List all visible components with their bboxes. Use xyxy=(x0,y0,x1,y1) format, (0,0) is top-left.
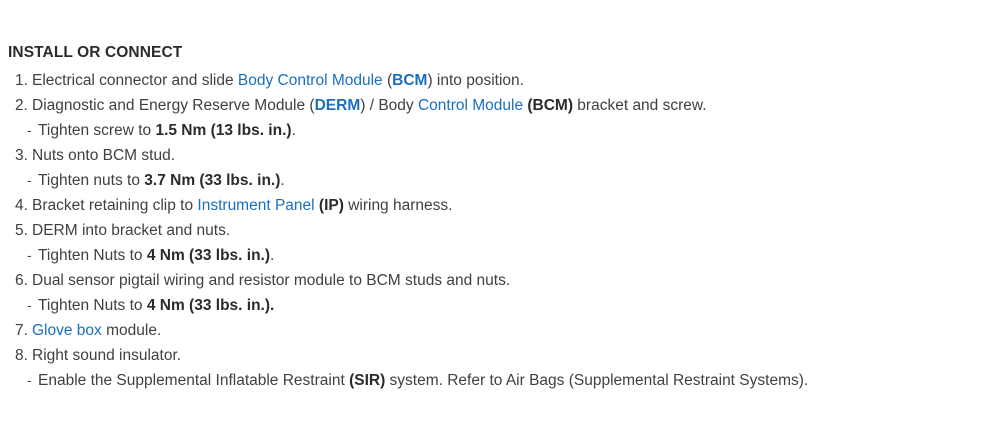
procedure-step: 6.Dual sensor pigtail wiring and resisto… xyxy=(0,268,997,293)
text-segment: 1.5 Nm (13 lbs. in.) xyxy=(155,122,291,139)
step-number: 4. xyxy=(15,193,32,218)
cross-reference-link[interactable]: DERM xyxy=(315,97,361,114)
step-text: Glove box module. xyxy=(32,322,161,339)
step-number: 5. xyxy=(15,218,32,243)
text-segment: 3.7 Nm (33 lbs. in.) xyxy=(144,172,280,189)
substep-bullet: - xyxy=(27,368,38,393)
text-segment: (IP) xyxy=(319,197,344,214)
substep-bullet: - xyxy=(27,243,38,268)
text-segment: Tighten Nuts to xyxy=(38,247,147,264)
procedure-step: 8.Right sound insulator. xyxy=(0,343,997,368)
procedure-step: 3.Nuts onto BCM stud. xyxy=(0,143,997,168)
text-segment: . xyxy=(270,247,274,264)
text-segment: Nuts onto BCM stud. xyxy=(32,147,175,164)
substep-bullet: - xyxy=(27,168,38,193)
text-segment: (BCM) xyxy=(527,97,573,114)
step-number: 8. xyxy=(15,343,32,368)
procedure-substep: -Tighten Nuts to 4 Nm (33 lbs. in.). xyxy=(0,243,997,268)
cross-reference-link[interactable]: Glove box xyxy=(32,322,102,339)
text-segment: wiring harness. xyxy=(344,197,453,214)
procedure-step: 2.Diagnostic and Energy Reserve Module (… xyxy=(0,93,997,118)
text-segment: Right sound insulator. xyxy=(32,347,181,364)
text-segment: ( xyxy=(383,72,392,89)
cross-reference-link[interactable]: Body Control Module xyxy=(238,72,383,89)
text-segment: Diagnostic and Energy Reserve Module ( xyxy=(32,97,315,114)
document-page: INSTALL OR CONNECT 1.Electrical connecto… xyxy=(0,0,997,436)
step-text: Dual sensor pigtail wiring and resistor … xyxy=(32,272,510,289)
procedure-step: 7.Glove box module. xyxy=(0,318,997,343)
text-segment: 4 Nm (33 lbs. in.). xyxy=(147,297,274,314)
text-segment: ) into position. xyxy=(427,72,524,89)
procedure-step: 4.Bracket retaining clip to Instrument P… xyxy=(0,193,997,218)
step-number: 6. xyxy=(15,268,32,293)
text-segment: . xyxy=(292,122,296,139)
text-segment: Tighten Nuts to xyxy=(38,297,147,314)
cross-reference-link[interactable]: Instrument Panel xyxy=(197,197,314,214)
substep-bullet: - xyxy=(27,118,38,143)
text-segment: Electrical connector and slide xyxy=(32,72,238,89)
step-number: 1. xyxy=(15,68,32,93)
step-text: Bracket retaining clip to Instrument Pan… xyxy=(32,197,452,214)
text-segment: system. Refer to Air Bags (Supplemental … xyxy=(385,372,808,389)
step-number: 7. xyxy=(15,318,32,343)
cross-reference-link[interactable]: Control Module xyxy=(418,97,523,114)
step-number: 2. xyxy=(15,93,32,118)
cross-reference-link[interactable]: BCM xyxy=(392,72,427,89)
text-segment: DERM into bracket and nuts. xyxy=(32,222,230,239)
step-number: 3. xyxy=(15,143,32,168)
procedure-substep: -Tighten screw to 1.5 Nm (13 lbs. in.). xyxy=(0,118,997,143)
section-heading: INSTALL OR CONNECT xyxy=(8,44,182,62)
text-segment: . xyxy=(280,172,284,189)
step-text: Right sound insulator. xyxy=(32,347,181,364)
substep-text: Tighten Nuts to 4 Nm (33 lbs. in.). xyxy=(38,297,274,314)
text-segment: module. xyxy=(102,322,161,339)
step-text: Diagnostic and Energy Reserve Module (DE… xyxy=(32,97,707,114)
substep-text: Tighten Nuts to 4 Nm (33 lbs. in.). xyxy=(38,247,274,264)
substep-bullet: - xyxy=(27,293,38,318)
text-segment: bracket and screw. xyxy=(573,97,707,114)
procedure-substep: -Enable the Supplemental Inflatable Rest… xyxy=(0,368,997,393)
text-segment: ) / Body xyxy=(360,97,418,114)
substep-text: Enable the Supplemental Inflatable Restr… xyxy=(38,372,808,389)
text-segment: Dual sensor pigtail wiring and resistor … xyxy=(32,272,510,289)
step-text: Nuts onto BCM stud. xyxy=(32,147,175,164)
procedure-substep: -Tighten nuts to 3.7 Nm (33 lbs. in.). xyxy=(0,168,997,193)
text-segment: Tighten screw to xyxy=(38,122,155,139)
text-segment: Bracket retaining clip to xyxy=(32,197,197,214)
procedure-step: 1.Electrical connector and slide Body Co… xyxy=(0,68,997,93)
text-segment: Tighten nuts to xyxy=(38,172,144,189)
procedure-step-list: 1.Electrical connector and slide Body Co… xyxy=(0,68,997,393)
text-segment: Enable the Supplemental Inflatable Restr… xyxy=(38,372,349,389)
procedure-substep: -Tighten Nuts to 4 Nm (33 lbs. in.). xyxy=(0,293,997,318)
procedure-step: 5.DERM into bracket and nuts. xyxy=(0,218,997,243)
substep-text: Tighten nuts to 3.7 Nm (33 lbs. in.). xyxy=(38,172,285,189)
text-segment: (SIR) xyxy=(349,372,385,389)
step-text: DERM into bracket and nuts. xyxy=(32,222,230,239)
text-segment: 4 Nm (33 lbs. in.) xyxy=(147,247,270,264)
step-text: Electrical connector and slide Body Cont… xyxy=(32,72,524,89)
substep-text: Tighten screw to 1.5 Nm (13 lbs. in.). xyxy=(38,122,296,139)
